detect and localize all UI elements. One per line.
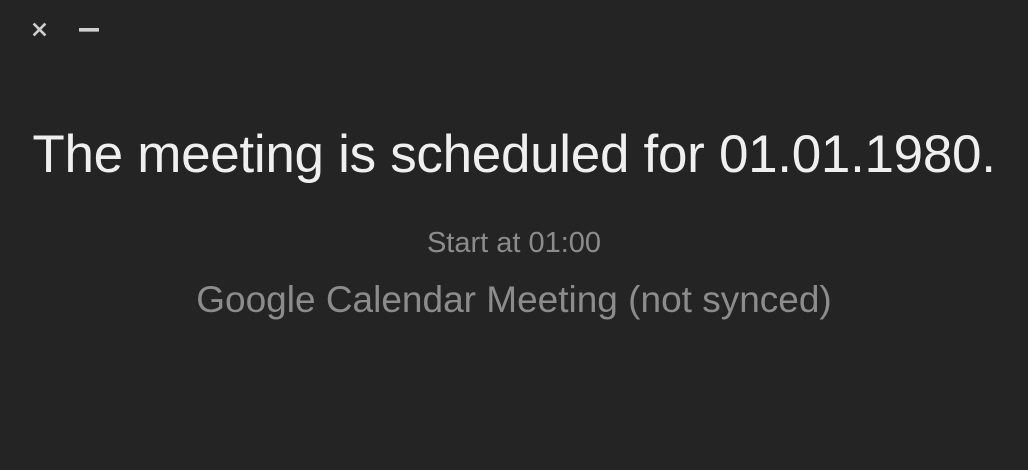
- meeting-headline: The meeting is scheduled for 01.01.1980.: [0, 127, 1028, 183]
- close-button[interactable]: [22, 12, 56, 46]
- minimize-button[interactable]: [72, 12, 106, 46]
- minimize-icon: [78, 20, 100, 38]
- close-icon: [31, 21, 48, 38]
- app-window: The meeting is scheduled for 01.01.1980.…: [0, 0, 1028, 470]
- main-content: The meeting is scheduled for 01.01.1980.…: [0, 58, 1028, 470]
- meeting-source-status: Google Calendar Meeting (not synced): [0, 280, 1028, 321]
- meeting-start-time: Start at 01:00: [0, 228, 1028, 260]
- title-bar: [0, 0, 1028, 58]
